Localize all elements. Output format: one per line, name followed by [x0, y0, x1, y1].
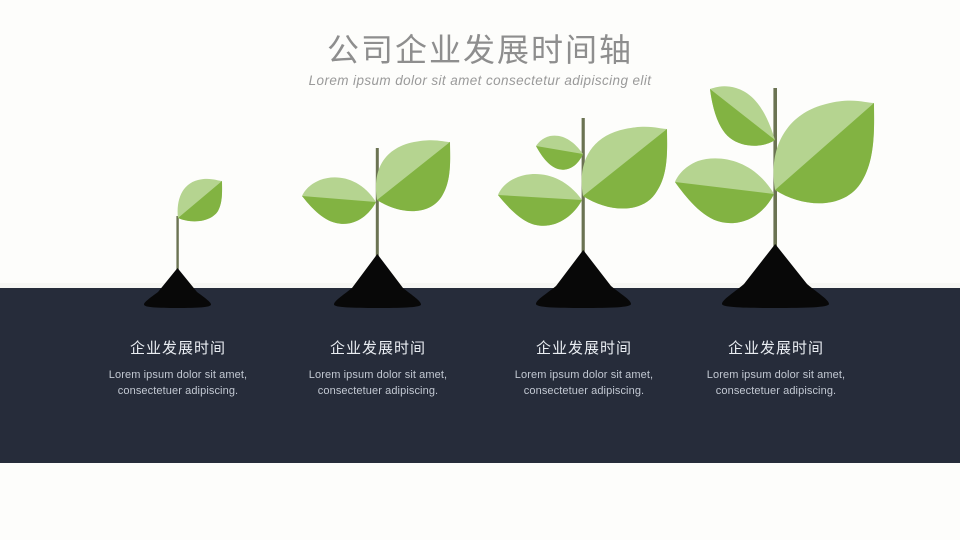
timeline-stage-2[interactable]: 企业发展时间 Lorem ipsum dolor sit amet, conse… — [272, 0, 484, 540]
stage-1-body: Lorem ipsum dolor sit amet, consectetuer… — [97, 367, 259, 399]
plant-illustration-4 — [670, 78, 882, 308]
stage-3-text-block: 企业发展时间 Lorem ipsum dolor sit amet, conse… — [478, 338, 690, 399]
soil-mound-2 — [334, 254, 421, 308]
stage-1-heading: 企业发展时间 — [76, 338, 280, 360]
stage-4-text-block: 企业发展时间 Lorem ipsum dolor sit amet, conse… — [670, 338, 882, 399]
stage-2-heading: 企业发展时间 — [276, 338, 480, 360]
plant-illustration-3 — [478, 78, 690, 308]
timeline-stage-3[interactable]: 企业发展时间 Lorem ipsum dolor sit amet, conse… — [478, 0, 690, 540]
stage-3-body: Lorem ipsum dolor sit amet, consectetuer… — [503, 367, 665, 399]
stage-1-text-block: 企业发展时间 Lorem ipsum dolor sit amet, conse… — [72, 338, 284, 399]
timeline-stage-list: 企业发展时间 Lorem ipsum dolor sit amet, conse… — [0, 0, 960, 540]
soil-mound-3 — [536, 250, 631, 308]
stage-3-heading: 企业发展时间 — [482, 338, 686, 360]
stage-4-heading: 企业发展时间 — [674, 338, 878, 360]
timeline-stage-4[interactable]: 企业发展时间 Lorem ipsum dolor sit amet, conse… — [670, 0, 882, 540]
soil-mound-1 — [144, 268, 211, 308]
plant-illustration-2 — [272, 78, 484, 308]
slide-canvas: 公司企业发展时间轴 Lorem ipsum dolor sit amet con… — [0, 0, 960, 540]
stage-4-body: Lorem ipsum dolor sit amet, consectetuer… — [695, 367, 857, 399]
stage-2-text-block: 企业发展时间 Lorem ipsum dolor sit amet, conse… — [272, 338, 484, 399]
plant-illustration-1 — [72, 78, 284, 308]
stage-2-body: Lorem ipsum dolor sit amet, consectetuer… — [297, 367, 459, 399]
soil-mound-4 — [722, 244, 829, 308]
leaf-3-left-dark — [498, 195, 582, 226]
timeline-stage-1[interactable]: 企业发展时间 Lorem ipsum dolor sit amet, conse… — [72, 0, 284, 540]
